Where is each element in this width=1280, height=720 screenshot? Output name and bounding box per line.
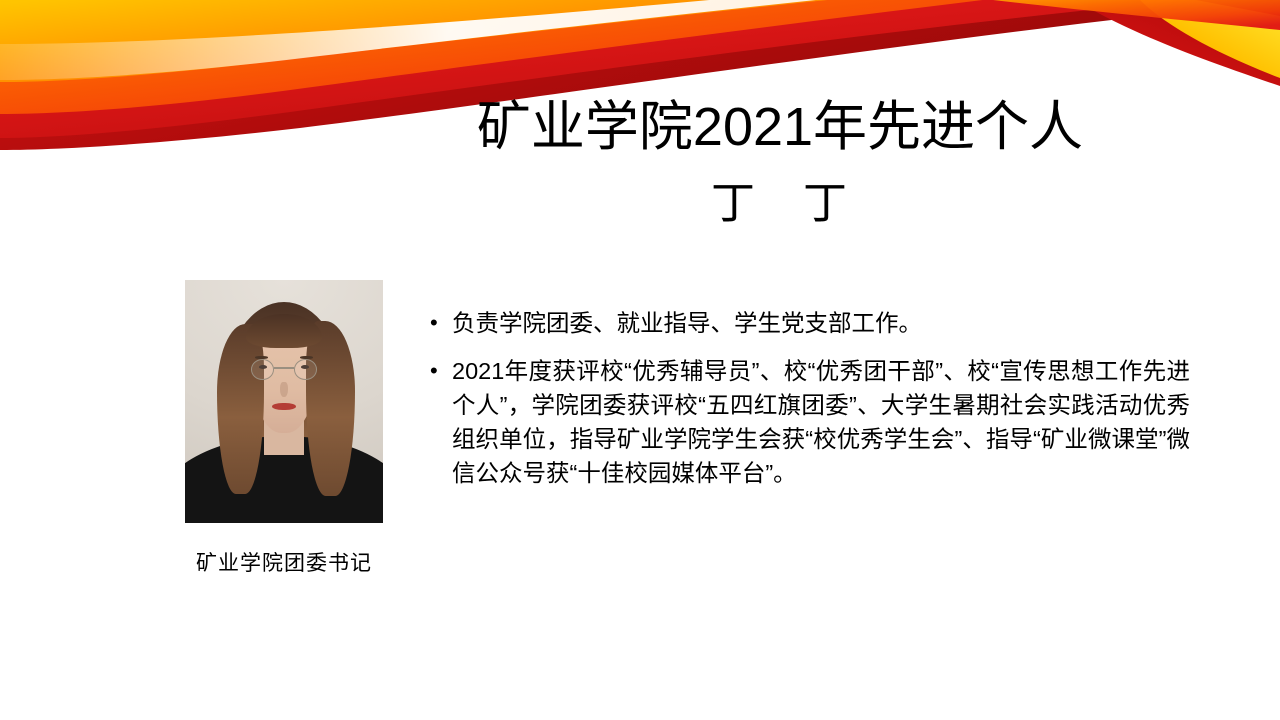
photo-eyeglass-right: [294, 359, 317, 380]
swoosh-right-wedge: [960, 0, 1280, 30]
bullet-text: 负责学院团委、就业指导、学生党支部工作。: [452, 306, 1190, 340]
swoosh-right-tail-yellow: [1140, 0, 1280, 78]
bullet-text: 2021年度获评校“优秀辅导员”、校“优秀团干部”、校“宣传思想工作先进个人”，…: [452, 354, 1190, 490]
swoosh-spacer: [0, 0, 1280, 52]
page-title: 矿业学院2021年先进个人: [390, 98, 1170, 156]
photo-nose: [280, 382, 287, 397]
photo-hair-right: [306, 321, 356, 496]
photo-hair-left: [217, 324, 265, 494]
bullet-marker-icon: •: [430, 306, 452, 340]
title-block: 矿业学院2021年先进个人 丁 丁: [390, 98, 1170, 229]
portrait-caption: 矿业学院团委书记: [185, 547, 383, 577]
photo-eyeglass-left: [251, 359, 274, 380]
swoosh-layer-yellow: [0, 0, 1280, 82]
swoosh-right-tail-red: [1076, 0, 1280, 86]
slide-canvas: 矿业学院2021年先进个人 丁 丁 矿业学院团委书记 •: [0, 0, 1280, 720]
swoosh-highlight-streak: [0, 0, 1280, 80]
portrait-photo: [185, 280, 383, 523]
portrait-section: 矿业学院团委书记: [185, 280, 383, 577]
list-item: • 负责学院团委、就业指导、学生党支部工作。: [430, 306, 1190, 340]
bullet-marker-icon: •: [430, 354, 452, 388]
person-name: 丁 丁: [390, 180, 1170, 228]
list-item: • 2021年度获评校“优秀辅导员”、校“优秀团干部”、校“宣传思想工作先进个人…: [430, 354, 1190, 490]
photo-eyeglass-bridge: [274, 367, 294, 368]
bullet-list: • 负责学院团委、就业指导、学生党支部工作。 • 2021年度获评校“优秀辅导员…: [430, 306, 1190, 504]
